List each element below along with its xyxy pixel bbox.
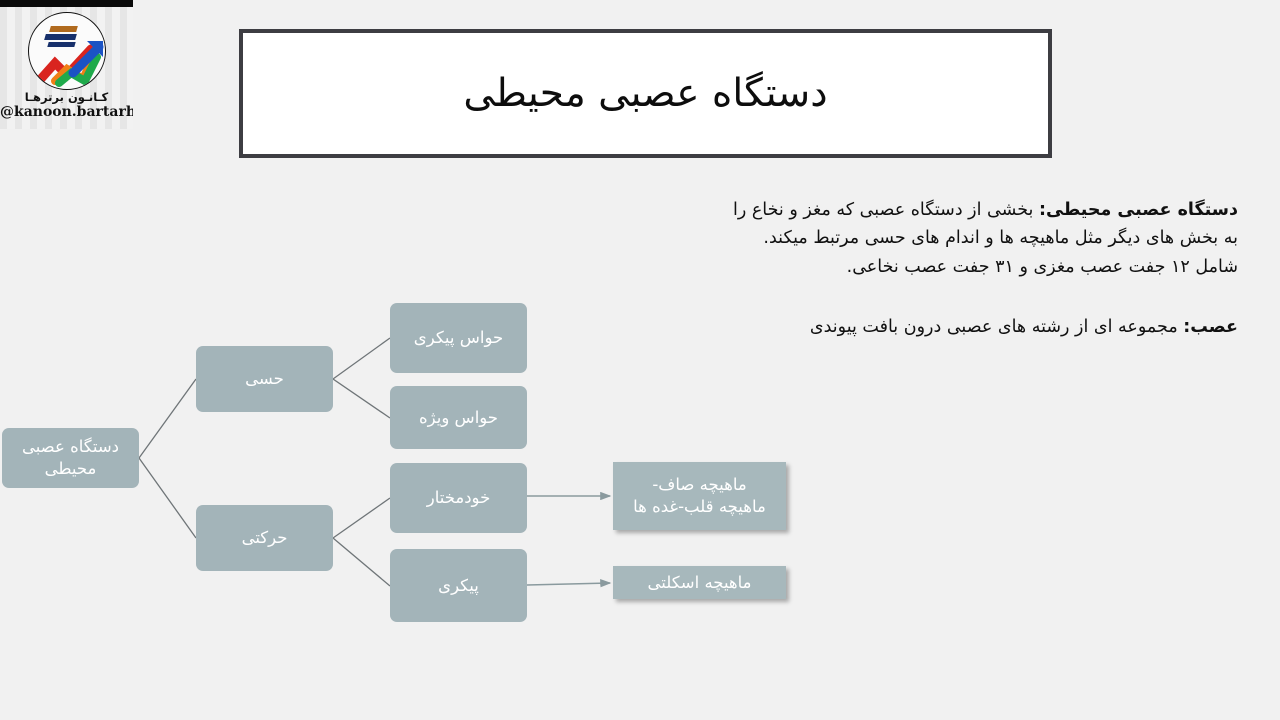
edge-motor-to-somatic <box>333 538 390 586</box>
edge-sensory-to-special-senses <box>333 379 390 418</box>
diagram-node-sensory[interactable]: حسی <box>196 346 333 412</box>
diagram-node-somatic[interactable]: پیکری <box>390 549 527 622</box>
diagram-node-label: خودمختار <box>427 487 491 509</box>
edge-motor-to-autonomic <box>333 498 390 538</box>
edge-sensory-to-somatic-senses <box>333 338 390 379</box>
diagram-node-label: ماهیچه اسکلتی <box>648 572 752 594</box>
diagram-node-peripheral-nervous-system[interactable]: دستگاه عصبی محیطی <box>2 428 139 488</box>
diagram-node-label: حرکتی <box>242 527 288 549</box>
diagram-node-label: حواس ویژه <box>419 407 498 429</box>
diagram-node-label: پیکری <box>438 575 479 597</box>
diagram-node-skeletal-muscle[interactable]: ماهیچه اسکلتی <box>613 566 786 599</box>
diagram-node-label: حواس پیکری <box>414 327 503 349</box>
diagram-node-smooth-cardiac-glands[interactable]: ماهیچه صاف- ماهیچه قلب-غده ها <box>613 462 786 530</box>
diagram-node-label-line2: ماهیچه قلب-غده ها <box>633 497 766 516</box>
diagram-node-motor[interactable]: حرکتی <box>196 505 333 571</box>
diagram-node-special-senses[interactable]: حواس ویژه <box>390 386 527 449</box>
edge-root-to-sensory <box>139 379 196 458</box>
diagram-connectors <box>0 0 1280 720</box>
diagram-node-autonomic[interactable]: خودمختار <box>390 463 527 533</box>
edge-somatic-to-skeletal <box>527 583 610 585</box>
diagram-node-label: حسی <box>245 368 284 390</box>
edge-root-to-motor <box>139 458 196 538</box>
diagram-node-label: دستگاه عصبی محیطی <box>2 436 139 480</box>
diagram-node-somatic-senses[interactable]: حواس پیکری <box>390 303 527 373</box>
concept-diagram: دستگاه عصبی محیطی حسی حرکتی حواس پیکری ح… <box>0 0 1280 720</box>
diagram-node-label-line1: ماهیچه صاف- <box>652 475 746 494</box>
